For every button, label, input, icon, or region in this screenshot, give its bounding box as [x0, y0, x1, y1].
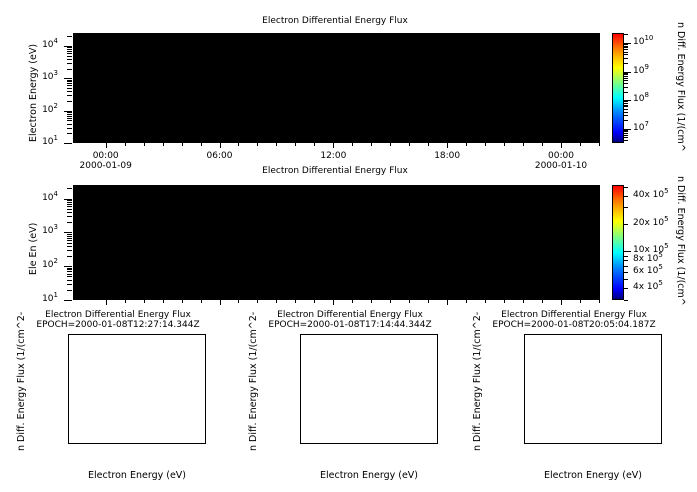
- middle-panel-colorbar-ticks: 40x 10520x 10510x 1058x 1056x 1054x 105: [624, 185, 679, 300]
- middle-panel-ytick-1: 103: [42, 226, 58, 236]
- middle-panel-spectrogram[interactable]: [73, 185, 600, 300]
- spectrum-yaxis-1: [258, 334, 300, 444]
- spectrum-title-0: Electron Differential Energy Flux: [8, 310, 228, 320]
- top-panel-ytick-2: 102: [42, 105, 58, 115]
- spectrum-xlabel-2: Electron Energy (eV): [524, 470, 662, 481]
- top-panel-xtick-1: 06:00: [203, 151, 237, 161]
- middle-panel-ytick-3: 101: [42, 294, 58, 304]
- middle-panel-ytick-2: 102: [42, 260, 58, 270]
- spectrum-panel-1[interactable]: Electron Differential Energy Flux EPOCH=…: [232, 306, 464, 492]
- top-panel-ytick-3: 101: [42, 137, 58, 147]
- top-colorbar-tick-1: 109: [633, 66, 649, 76]
- top-colorbar-tick-3: 107: [633, 123, 649, 133]
- spectrum-xaxis-2: [524, 444, 662, 470]
- middle-panel-title: Electron Differential Energy Flux: [0, 166, 670, 176]
- spectrum-title-1: Electron Differential Energy Flux: [240, 310, 460, 320]
- top-panel-xtick-3: 18:00: [430, 151, 464, 161]
- spectrum-epoch-1: EPOCH=2000-01-08T17:14:44.344Z: [240, 320, 460, 330]
- top-panel-yaxis-ticks: 104103102101: [30, 33, 72, 143]
- middle-panel-ytick-0: 104: [42, 193, 58, 203]
- spectrum-yaxis-0: [26, 334, 68, 444]
- spectrum-xaxis-0: [68, 444, 206, 470]
- top-panel-spectrogram[interactable]: [73, 33, 600, 143]
- top-panel-xtick-4: 00:00: [544, 151, 578, 161]
- top-panel-ytick-0: 104: [42, 40, 58, 50]
- middle-panel-colorbar-label: n Diff. Energy Flux (1/(cm^: [675, 176, 686, 306]
- middle-panel-yaxis-ticks: 104103102101: [30, 185, 72, 300]
- spectrum-epoch-0: EPOCH=2000-01-08T12:27:14.344Z: [8, 320, 228, 330]
- top-panel-xtick-0: 00:00: [89, 151, 123, 161]
- top-colorbar-tick-0: 1010: [633, 37, 653, 47]
- top-panel-xaxis-ticks: [73, 143, 600, 149]
- middle-colorbar-tick-5: 4x 105: [633, 282, 663, 292]
- top-panel-colorbar-ticks: 1010109108107: [624, 33, 654, 143]
- top-panel-xtick-2: 12:00: [316, 151, 350, 161]
- spectrum-plot-2[interactable]: [524, 334, 662, 444]
- spectrum-xaxis-1: [300, 444, 438, 470]
- top-panel-title: Electron Differential Energy Flux: [0, 16, 670, 26]
- spectrum-panel-2[interactable]: Electron Differential Energy Flux EPOCH=…: [460, 306, 697, 492]
- middle-colorbar-tick-0: 40x 105: [633, 190, 669, 200]
- middle-colorbar-tick-1: 20x 105: [633, 218, 669, 228]
- spectrum-xlabel-0: Electron Energy (eV): [68, 470, 206, 481]
- middle-panel-colorbar[interactable]: [612, 185, 624, 300]
- spectrum-plot-0[interactable]: [68, 334, 206, 444]
- spectrum-title-2: Electron Differential Energy Flux: [464, 310, 684, 320]
- top-panel-colorbar[interactable]: [612, 33, 624, 143]
- spectrum-yaxis-2: [482, 334, 524, 444]
- spectrum-epoch-2: EPOCH=2000-01-08T20:05:04.187Z: [464, 320, 684, 330]
- top-panel-colorbar-label: n Diff. Energy Flux (1/(cm^: [675, 22, 686, 152]
- spectrum-panel-0[interactable]: Electron Differential Energy Flux EPOCH=…: [0, 306, 232, 492]
- top-colorbar-tick-2: 108: [633, 94, 649, 104]
- spectrum-plot-1[interactable]: [300, 334, 438, 444]
- spectrum-xlabel-1: Electron Energy (eV): [300, 470, 438, 481]
- middle-colorbar-tick-4: 6x 105: [633, 266, 663, 276]
- top-panel-ytick-1: 103: [42, 72, 58, 82]
